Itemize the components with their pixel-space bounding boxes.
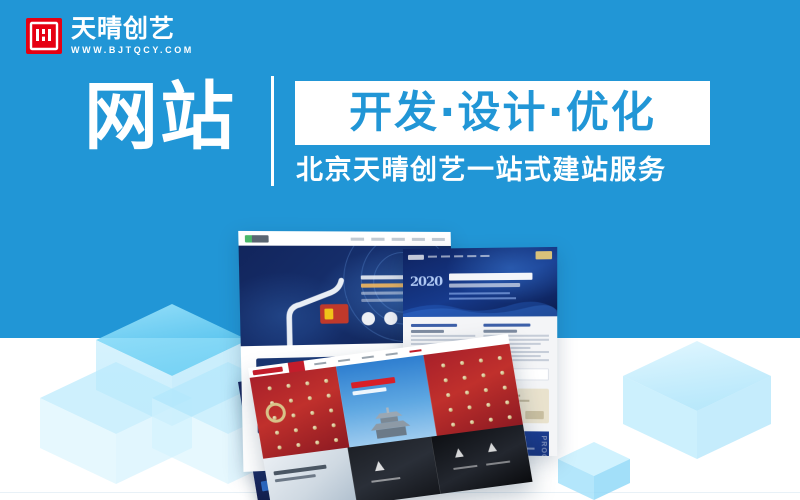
headline-divider xyxy=(271,76,274,186)
brand-logo-text: 天晴创艺 WWW.BJTQCY.COM xyxy=(71,16,194,56)
brand-website-url: WWW.BJTQCY.COM xyxy=(71,44,194,56)
promo-banner: 2020 xyxy=(0,0,800,500)
mockup-a-nav xyxy=(351,237,445,240)
mockup-a-device-icon xyxy=(270,261,370,331)
mockup-b-programme-label: PROGRAMME xyxy=(540,435,547,456)
mockup-b-wave-graphic xyxy=(403,294,557,317)
mockup-c-sky-caption xyxy=(351,377,397,396)
brand-name: 天晴创艺 xyxy=(71,16,194,42)
mockup-a-logo-icon xyxy=(245,235,269,242)
page-subtitle: 北京天晴创艺一站式建站服务 xyxy=(296,155,667,187)
mockup-c-panel-gallery-b xyxy=(431,425,533,494)
mockup-c-panel-gallery-a xyxy=(347,437,440,500)
mockup-b-topnav xyxy=(408,251,552,261)
mockup-c-panel-pagoda xyxy=(336,355,437,447)
page-title: 网站 xyxy=(84,78,236,156)
mockup-b-logo-icon xyxy=(408,254,424,259)
services-chip-label: 开发·设计·优化 xyxy=(349,90,656,136)
mockup-b-year: 2020 xyxy=(410,275,442,290)
mockup-b-hero: 2020 xyxy=(403,247,557,317)
mockup-c-panel-palace-door-right xyxy=(423,344,523,436)
mockup-c-panel-palace-door-left xyxy=(250,367,350,459)
mockup-b-flag-icon xyxy=(536,251,553,259)
services-chip: 开发·设计·优化 xyxy=(295,81,710,145)
pagoda-icon xyxy=(362,401,417,445)
brand-logo[interactable]: 天晴创艺 WWW.BJTQCY.COM xyxy=(26,16,194,56)
tqcy-square-logo-icon xyxy=(26,18,62,54)
mockup-a-header xyxy=(238,231,451,246)
